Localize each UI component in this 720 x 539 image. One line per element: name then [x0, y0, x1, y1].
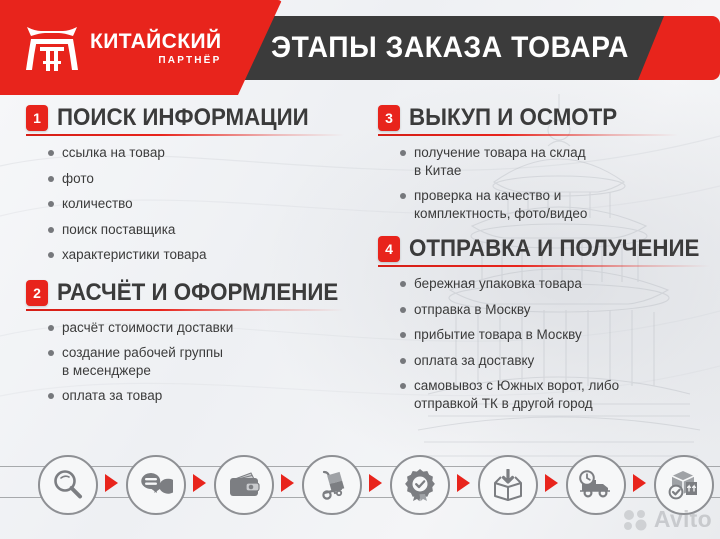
wallet-icon [227, 470, 261, 500]
list-item: расчёт стоимости доставки [48, 319, 356, 337]
process-strip [0, 447, 720, 539]
section-2-title: РАСЧЁТ И ОФОРМЛЕНИЕ [57, 280, 338, 305]
arrow-right-icon-6 [545, 474, 558, 492]
list-item: получение товара на складв Китае [400, 144, 712, 179]
section-3-list: получение товара на складв Китае проверк… [378, 144, 712, 222]
section-2-header: 2 РАСЧЁТ И ОФОРМЛЕНИЕ [26, 280, 356, 306]
section-1-title: ПОИСК ИНФОРМАЦИИ [57, 105, 309, 130]
packing-box-icon [491, 469, 525, 501]
section-4: 4 ОТПРАВКА И ПОЛУЧЕНИЕ бережная упаковка… [378, 236, 712, 412]
section-4-header: 4 ОТПРАВКА И ПОЛУЧЕНИЕ [378, 236, 712, 262]
hand-truck-icon [315, 469, 349, 501]
list-item: создание рабочей группыв месенджере [48, 344, 356, 379]
section-1-number: 1 [26, 105, 48, 131]
section-4-list: бережная упаковка товара отправка в Моск… [378, 275, 712, 412]
arrow-right-icon-4 [369, 474, 382, 492]
arrow-right-icon-2 [193, 474, 206, 492]
step-node-wallet [214, 455, 274, 515]
step-node-quality [390, 455, 450, 515]
brand-name-line2: ПАРТНЁР [90, 56, 221, 66]
section-1: 1 ПОИСК ИНФОРМАЦИИ ссылка на товар фото … [26, 105, 356, 264]
brand-logo: КИТАЙСКИЙ ПАРТНЁР [24, 21, 221, 75]
avito-dots-icon [623, 509, 649, 531]
list-item: фото [48, 170, 356, 188]
step-node-magnifier [38, 455, 98, 515]
section-1-list: ссылка на товар фото количество поиск по… [26, 144, 356, 264]
list-item: оплата за доставку [400, 352, 712, 370]
section-3: 3 ВЫКУП И ОСМОТР получение товара на скл… [378, 105, 712, 222]
arrow-right-icon-3 [281, 474, 294, 492]
section-4-rule [378, 265, 710, 267]
list-item: самовывоз с Южных ворот, либоотправкой Т… [400, 377, 712, 412]
infographic-poster: КИТАЙСКИЙ ПАРТНЁР ЭТАПЫ ЗАКАЗА ТОВАРА 1 … [0, 0, 720, 539]
column-right: 3 ВЫКУП И ОСМОТР получение товара на скл… [378, 105, 712, 420]
chat-bubbles-icon [139, 469, 173, 501]
header: КИТАЙСКИЙ ПАРТНЁР ЭТАПЫ ЗАКАЗА ТОВАРА [0, 0, 720, 95]
step-node-hand-truck [302, 455, 362, 515]
list-item: отправка в Москву [400, 301, 712, 319]
list-item: проверка на качество икомплектность, фот… [400, 187, 712, 222]
list-item: характеристики товара [48, 246, 356, 264]
list-item: количество [48, 195, 356, 213]
section-4-title: ОТПРАВКА И ПОЛУЧЕНИЕ [409, 236, 699, 261]
section-2: 2 РАСЧЁТ И ОФОРМЛЕНИЕ расчёт стоимости д… [26, 280, 356, 405]
section-1-rule [26, 134, 344, 136]
step-node-delivery [566, 455, 626, 515]
section-3-rule [378, 134, 678, 136]
section-1-header: 1 ПОИСК ИНФОРМАЦИИ [26, 105, 356, 131]
list-item: оплата за товар [48, 387, 356, 405]
arrow-right-icon-1 [105, 474, 118, 492]
section-4-number: 4 [378, 236, 400, 262]
page-title: ЭТАПЫ ЗАКАЗА ТОВАРА [262, 16, 638, 80]
section-3-title: ВЫКУП И ОСМОТР [409, 105, 617, 130]
section-3-number: 3 [378, 105, 400, 131]
list-item: поиск поставщика [48, 221, 356, 239]
magnifier-icon [51, 468, 85, 502]
list-item: бережная упаковка товара [400, 275, 712, 293]
torii-gate-icon [24, 21, 80, 75]
avito-watermark: Avito [623, 506, 712, 533]
quality-badge-icon [404, 468, 436, 502]
step-node-chat [126, 455, 186, 515]
delivery-truck-icon [578, 470, 614, 500]
list-item: прибытие товара в Москву [400, 326, 712, 344]
section-2-number: 2 [26, 280, 48, 306]
section-2-list: расчёт стоимости доставки создание рабоч… [26, 319, 356, 405]
step-node-packing [478, 455, 538, 515]
arrow-right-icon-5 [457, 474, 470, 492]
verified-parcel-icon [667, 469, 701, 501]
column-left: 1 ПОИСК ИНФОРМАЦИИ ссылка на товар фото … [26, 105, 356, 413]
avito-label: Avito [654, 506, 712, 533]
section-3-header: 3 ВЫКУП И ОСМОТР [378, 105, 712, 131]
brand-name-line1: КИТАЙСКИЙ [90, 31, 221, 52]
list-item: ссылка на товар [48, 144, 356, 162]
arrow-right-icon-7 [633, 474, 646, 492]
section-2-rule [26, 309, 344, 311]
